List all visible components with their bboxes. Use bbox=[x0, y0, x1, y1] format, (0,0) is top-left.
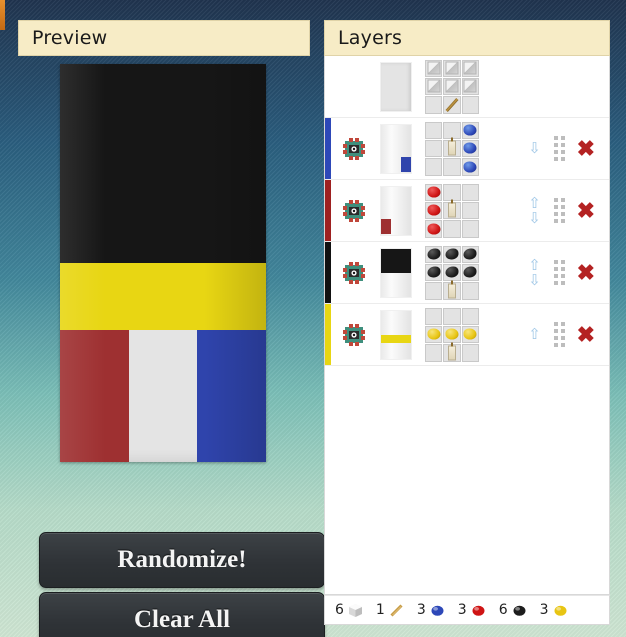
banner-pattern-half-top bbox=[60, 64, 266, 263]
black-dye-icon bbox=[464, 267, 477, 278]
craft-slot-wool bbox=[462, 78, 479, 95]
red-dye-icon bbox=[427, 205, 440, 216]
craft-slot-yellow bbox=[425, 326, 442, 343]
red-dye-icon bbox=[427, 187, 440, 198]
craft-slot-empty bbox=[443, 308, 460, 325]
drag-dot bbox=[561, 157, 565, 161]
material-count: 3 bbox=[540, 602, 549, 618]
material-count: 3 bbox=[458, 602, 467, 618]
dandelion-yellow-icon bbox=[553, 603, 568, 618]
layers-list[interactable]: ⇩✖⇧⇩✖⇧⇩✖⇧✖ bbox=[324, 56, 610, 595]
craft-slot-red bbox=[425, 184, 442, 201]
craft-slot-empty bbox=[425, 282, 442, 299]
randomize-button[interactable]: Randomize! bbox=[39, 532, 325, 588]
material-item: 3 bbox=[540, 602, 568, 618]
delete-layer-icon[interactable]: ✖ bbox=[577, 324, 595, 346]
layer-row[interactable]: ⇧⇩✖ bbox=[325, 180, 609, 242]
banner-pattern-stripe-left bbox=[60, 329, 129, 462]
material-item: 6 bbox=[335, 602, 363, 618]
black-dye-icon bbox=[464, 249, 477, 260]
move-layer-up-icon[interactable]: ⇧ bbox=[528, 259, 541, 272]
wool-icon bbox=[427, 62, 440, 75]
banner-pattern-stripe-middle bbox=[381, 335, 411, 343]
craft-slot-empty bbox=[462, 344, 479, 361]
layers-title: Layers bbox=[324, 20, 610, 56]
craft-slot-wool bbox=[443, 78, 460, 95]
drag-dot bbox=[554, 274, 558, 278]
move-layer-up-icon[interactable]: ⇧ bbox=[528, 197, 541, 210]
move-layer-down-icon[interactable]: ⇩ bbox=[528, 212, 541, 225]
craft-slot-empty bbox=[462, 282, 479, 299]
delete-layer-icon[interactable]: ✖ bbox=[577, 200, 595, 222]
layer-row[interactable]: ⇧✖ bbox=[325, 304, 609, 366]
drag-handle-icon[interactable] bbox=[554, 260, 565, 285]
layer-color-strip bbox=[325, 242, 331, 303]
drag-dot bbox=[554, 281, 558, 285]
wool-icon bbox=[464, 80, 477, 93]
craft-slot-black bbox=[425, 246, 442, 263]
layer-row[interactable] bbox=[325, 56, 609, 118]
material-item: 3 bbox=[417, 602, 445, 618]
drag-dot bbox=[561, 260, 565, 264]
craft-slot-empty bbox=[443, 220, 460, 237]
craft-slot-empty bbox=[462, 220, 479, 237]
drag-dot bbox=[561, 143, 565, 147]
lapis-icon bbox=[430, 603, 445, 618]
craft-slot-banner bbox=[443, 282, 460, 299]
clear-all-button[interactable]: Clear All bbox=[39, 592, 325, 637]
drag-dot bbox=[554, 136, 558, 140]
craft-slot-empty bbox=[462, 308, 479, 325]
drag-dot bbox=[561, 205, 565, 209]
crafting-recipe-grid bbox=[425, 122, 479, 176]
stick-icon bbox=[389, 603, 404, 618]
banner-pattern-base bbox=[381, 63, 411, 111]
layer-controls: ⇧⇩✖ bbox=[528, 259, 609, 287]
craft-slot-empty bbox=[425, 344, 442, 361]
drag-dot bbox=[561, 198, 565, 202]
banner-pattern-half-top bbox=[381, 249, 411, 273]
craft-slot-lapis bbox=[462, 140, 479, 157]
drag-dot bbox=[561, 274, 565, 278]
drag-dot bbox=[554, 205, 558, 209]
loom-icon bbox=[341, 260, 367, 286]
lapis-dye-icon bbox=[464, 125, 477, 136]
red-dye-icon bbox=[427, 223, 440, 234]
craft-slot-banner bbox=[443, 344, 460, 361]
wool-icon bbox=[445, 80, 458, 93]
yellow-dye-icon bbox=[464, 329, 477, 340]
craft-slot-empty bbox=[443, 122, 460, 139]
drag-dot bbox=[561, 267, 565, 271]
layer-thumbnail bbox=[381, 249, 411, 297]
layer-controls: ⇩✖ bbox=[528, 136, 609, 161]
craft-slot-empty bbox=[425, 308, 442, 325]
craft-slot-banner bbox=[443, 140, 460, 157]
drag-dot bbox=[554, 198, 558, 202]
craft-slot-banner bbox=[443, 202, 460, 219]
move-layer-down-icon[interactable]: ⇩ bbox=[528, 142, 541, 155]
banner-item-icon bbox=[448, 283, 456, 298]
craft-slot-wool bbox=[443, 60, 460, 77]
material-item: 1 bbox=[376, 602, 404, 618]
rose-red-icon bbox=[471, 603, 486, 618]
layer-controls: ⇧⇩✖ bbox=[528, 197, 609, 225]
craft-slot-empty bbox=[443, 158, 460, 175]
layer-row[interactable]: ⇩✖ bbox=[325, 118, 609, 180]
craft-slot-empty bbox=[425, 140, 442, 157]
material-count: 6 bbox=[499, 602, 508, 618]
materials-bar: 613363 bbox=[324, 595, 610, 625]
wool-icon bbox=[445, 62, 458, 75]
move-layer-up-icon[interactable]: ⇧ bbox=[528, 328, 541, 341]
layer-color-strip bbox=[325, 56, 331, 117]
drag-dot bbox=[561, 150, 565, 154]
layer-color-strip bbox=[325, 304, 331, 365]
loom-icon-placeholder bbox=[341, 74, 367, 100]
wool-icon bbox=[348, 603, 363, 618]
banner-item-icon bbox=[448, 203, 456, 218]
banner-pattern-stripe-right bbox=[197, 329, 266, 462]
black-dye-icon bbox=[427, 249, 440, 260]
reorder-arrows: ⇩ bbox=[528, 142, 542, 155]
delete-layer-icon[interactable]: ✖ bbox=[577, 138, 595, 160]
drag-dot bbox=[554, 322, 558, 326]
drag-dot bbox=[554, 329, 558, 333]
layer-color-strip bbox=[325, 118, 331, 179]
wool-icon bbox=[427, 80, 440, 93]
craft-slot-empty bbox=[425, 122, 442, 139]
wool-icon bbox=[464, 62, 477, 75]
craft-slot-lapis bbox=[462, 122, 479, 139]
drag-dot bbox=[561, 329, 565, 333]
lapis-dye-icon bbox=[464, 143, 477, 154]
craft-slot-empty bbox=[462, 184, 479, 201]
craft-slot-black bbox=[443, 264, 460, 281]
layers-panel: Layers ⇩✖⇧⇩✖⇧⇩✖⇧✖ 613363 bbox=[324, 20, 610, 625]
banner-item-icon bbox=[448, 141, 456, 156]
craft-slot-wool bbox=[462, 60, 479, 77]
yellow-dye-icon bbox=[445, 329, 458, 340]
banner-pattern-stripe-right bbox=[401, 157, 411, 173]
craft-slot-yellow bbox=[462, 326, 479, 343]
preview-panel: Preview Randomize! Clear All bbox=[18, 20, 310, 625]
drag-handle-icon[interactable] bbox=[554, 136, 565, 161]
crafting-recipe-grid bbox=[425, 184, 479, 238]
drag-dot bbox=[554, 150, 558, 154]
reorder-arrows: ⇧⇩ bbox=[528, 197, 542, 225]
drag-handle-icon bbox=[572, 74, 583, 99]
drag-dot bbox=[554, 219, 558, 223]
reorder-arrows: ⇧⇩ bbox=[528, 259, 542, 287]
craft-slot-lapis bbox=[462, 158, 479, 175]
drag-dot bbox=[554, 267, 558, 271]
craft-slot-wool bbox=[425, 78, 442, 95]
layer-controls bbox=[546, 74, 609, 99]
banner-pattern-stripe-middle bbox=[60, 263, 266, 330]
craft-slot-black bbox=[462, 246, 479, 263]
craft-slot-stick bbox=[443, 96, 460, 113]
layer-thumbnail bbox=[381, 63, 411, 111]
banner-item-icon bbox=[448, 345, 456, 360]
drag-dot bbox=[561, 281, 565, 285]
drag-dot bbox=[561, 322, 565, 326]
layer-color-strip bbox=[325, 180, 331, 241]
black-dye-icon bbox=[445, 249, 458, 260]
drag-handle-icon[interactable] bbox=[554, 198, 565, 223]
crafting-recipe-grid bbox=[425, 246, 479, 300]
drag-dot bbox=[561, 336, 565, 340]
preview-title: Preview bbox=[18, 20, 310, 56]
craft-slot-empty bbox=[425, 96, 442, 113]
loom-icon bbox=[341, 136, 367, 162]
move-layer-down-icon[interactable]: ⇩ bbox=[528, 274, 541, 287]
drag-dot bbox=[561, 343, 565, 347]
stick-icon bbox=[446, 98, 459, 112]
reorder-arrows: ⇧ bbox=[528, 328, 542, 341]
material-count: 6 bbox=[335, 602, 344, 618]
yellow-dye-icon bbox=[427, 329, 440, 340]
material-count: 1 bbox=[376, 602, 385, 618]
material-item: 6 bbox=[499, 602, 527, 618]
drag-handle-icon[interactable] bbox=[554, 322, 565, 347]
drag-dot bbox=[554, 143, 558, 147]
lapis-dye-icon bbox=[464, 161, 477, 172]
craft-slot-black bbox=[425, 264, 442, 281]
craft-slot-black bbox=[443, 246, 460, 263]
layer-thumbnail bbox=[381, 125, 411, 173]
drag-dot bbox=[554, 260, 558, 264]
material-item: 3 bbox=[458, 602, 486, 618]
craft-slot-empty bbox=[425, 158, 442, 175]
ink-sac-icon bbox=[512, 603, 527, 618]
layer-controls: ⇧✖ bbox=[528, 322, 609, 347]
banner-canvas bbox=[60, 64, 266, 462]
banner-preview bbox=[60, 64, 266, 462]
layer-thumbnail bbox=[381, 187, 411, 235]
craft-slot-yellow bbox=[443, 326, 460, 343]
layer-row[interactable]: ⇧⇩✖ bbox=[325, 242, 609, 304]
craft-slot-red bbox=[425, 202, 442, 219]
drag-dot bbox=[561, 212, 565, 216]
craft-slot-empty bbox=[462, 96, 479, 113]
crafting-recipe-grid bbox=[425, 60, 479, 114]
craft-slot-black bbox=[462, 264, 479, 281]
delete-layer-icon[interactable]: ✖ bbox=[577, 262, 595, 284]
craft-slot-red bbox=[425, 220, 442, 237]
craft-slot-empty bbox=[462, 202, 479, 219]
drag-dot bbox=[554, 212, 558, 216]
loom-icon bbox=[341, 198, 367, 224]
black-dye-icon bbox=[445, 267, 458, 278]
loom-icon bbox=[341, 322, 367, 348]
layer-thumbnail bbox=[381, 311, 411, 359]
banner-pattern-stripe-left bbox=[381, 219, 391, 235]
crafting-recipe-grid bbox=[425, 308, 479, 362]
black-dye-icon bbox=[427, 267, 440, 278]
drag-dot bbox=[561, 136, 565, 140]
material-count: 3 bbox=[417, 602, 426, 618]
craft-slot-empty bbox=[443, 184, 460, 201]
drag-dot bbox=[554, 336, 558, 340]
craft-slot-wool bbox=[425, 60, 442, 77]
drag-dot bbox=[561, 219, 565, 223]
action-buttons: Randomize! Clear All bbox=[39, 532, 325, 637]
drag-dot bbox=[554, 343, 558, 347]
edge-accent bbox=[0, 0, 5, 30]
drag-dot bbox=[554, 157, 558, 161]
